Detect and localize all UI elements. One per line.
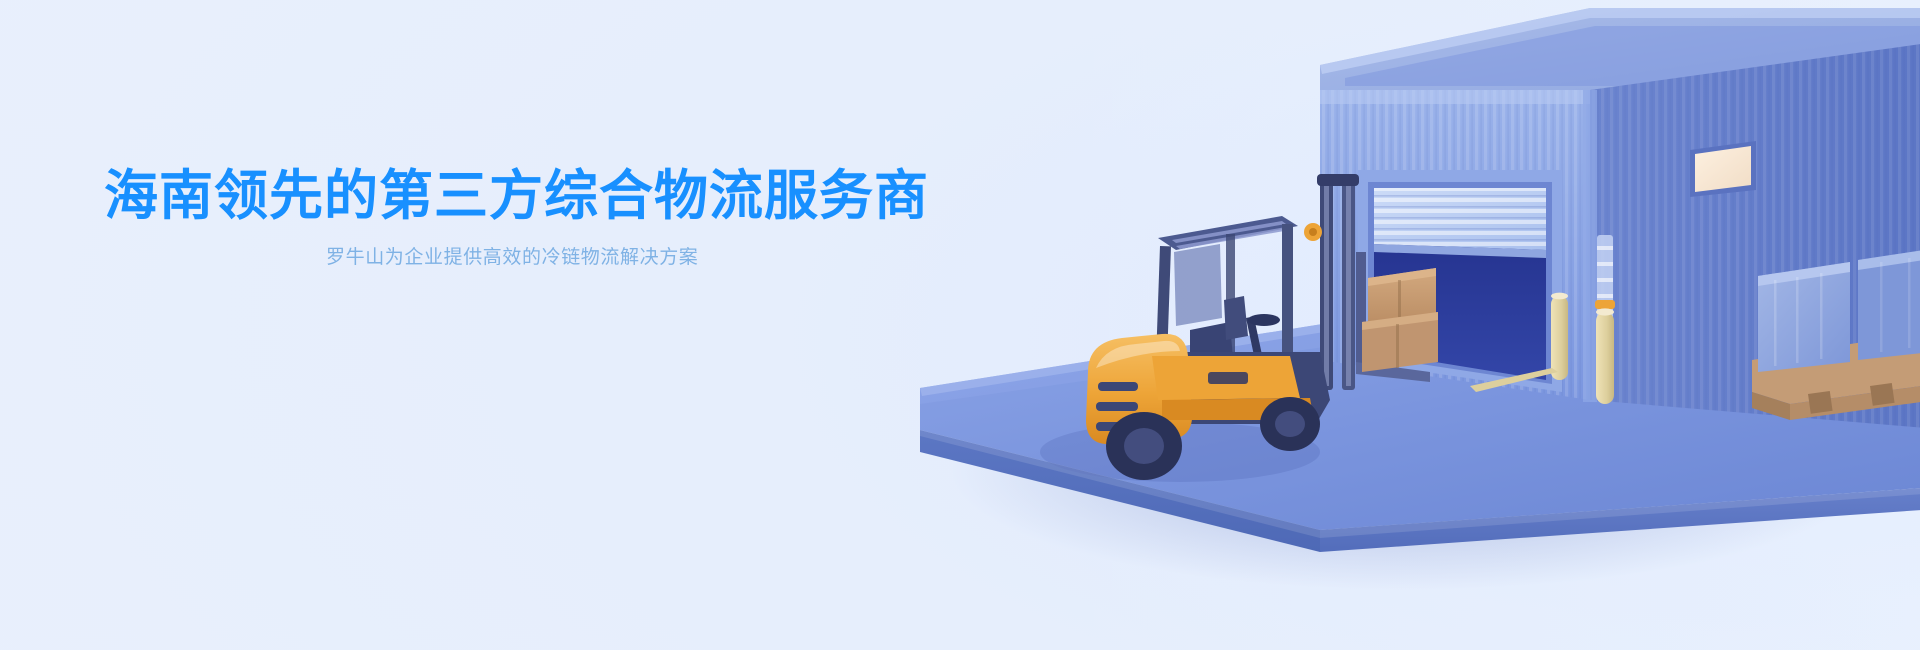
- cardboard-boxes: [1362, 268, 1438, 372]
- page-subtitle: 罗牛山为企业提供高效的冷链物流解决方案: [326, 244, 929, 273]
- warehouse-window: [1690, 141, 1756, 197]
- warehouse-scene-svg: [890, 0, 1920, 650]
- hero-banner: 海南领先的第三方综合物流服务商 罗牛山为企业提供高效的冷链物流解决方案: [0, 0, 1920, 650]
- page-title: 海南领先的第三方综合物流服务商: [104, 165, 929, 228]
- hero-copy-block: 海南领先的第三方综合物流服务商 罗牛山为企业提供高效的冷链物流解决方案: [104, 165, 929, 272]
- warehouse-illustration: [890, 0, 1920, 650]
